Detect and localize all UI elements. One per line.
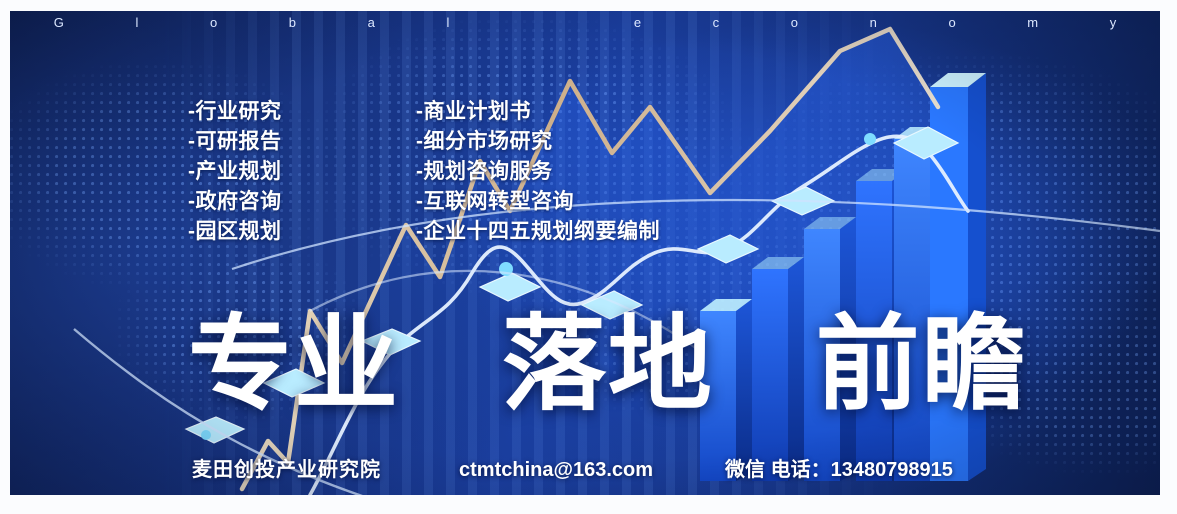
- contact-email[interactable]: ctmtchina@163.com: [459, 459, 653, 482]
- footer-contact-bar: 麦田创投产业研究院 ctmtchina@163.com 微信 电话：134807…: [192, 453, 953, 482]
- service-item: -细分市场研究: [416, 127, 660, 157]
- service-item: -产业规划: [188, 157, 282, 187]
- service-item: -园区规划: [188, 217, 282, 247]
- services-column-left: -行业研究 -可研报告 -产业规划 -政府咨询 -园区规划: [188, 97, 282, 247]
- headline: 专业 落地 前瞻: [188, 311, 1028, 419]
- headline-word-1: 专业: [188, 307, 400, 423]
- promo-banner: G l o b a l e c o n o m y -行业研究 -可研报告 -产…: [10, 11, 1160, 495]
- service-item: -政府咨询: [188, 187, 282, 217]
- services-column-right: -商业计划书 -细分市场研究 -规划咨询服务 -互联网转型咨询 -企业十四五规划…: [416, 97, 660, 247]
- service-item: -行业研究: [188, 97, 282, 127]
- service-item: -规划咨询服务: [416, 157, 660, 187]
- service-item: -可研报告: [188, 127, 282, 157]
- headline-word-2: 落地: [502, 307, 714, 423]
- contact-phone: 微信 电话：13480798915: [725, 453, 953, 482]
- service-item: -互联网转型咨询: [416, 187, 660, 217]
- company-name: 麦田创投产业研究院: [192, 453, 381, 482]
- kicker-text: G l o b a l e c o n o m y: [10, 15, 1160, 30]
- headline-word-3: 前瞻: [816, 307, 1028, 423]
- service-item: -企业十四五规划纲要编制: [416, 217, 660, 247]
- service-item: -商业计划书: [416, 97, 660, 127]
